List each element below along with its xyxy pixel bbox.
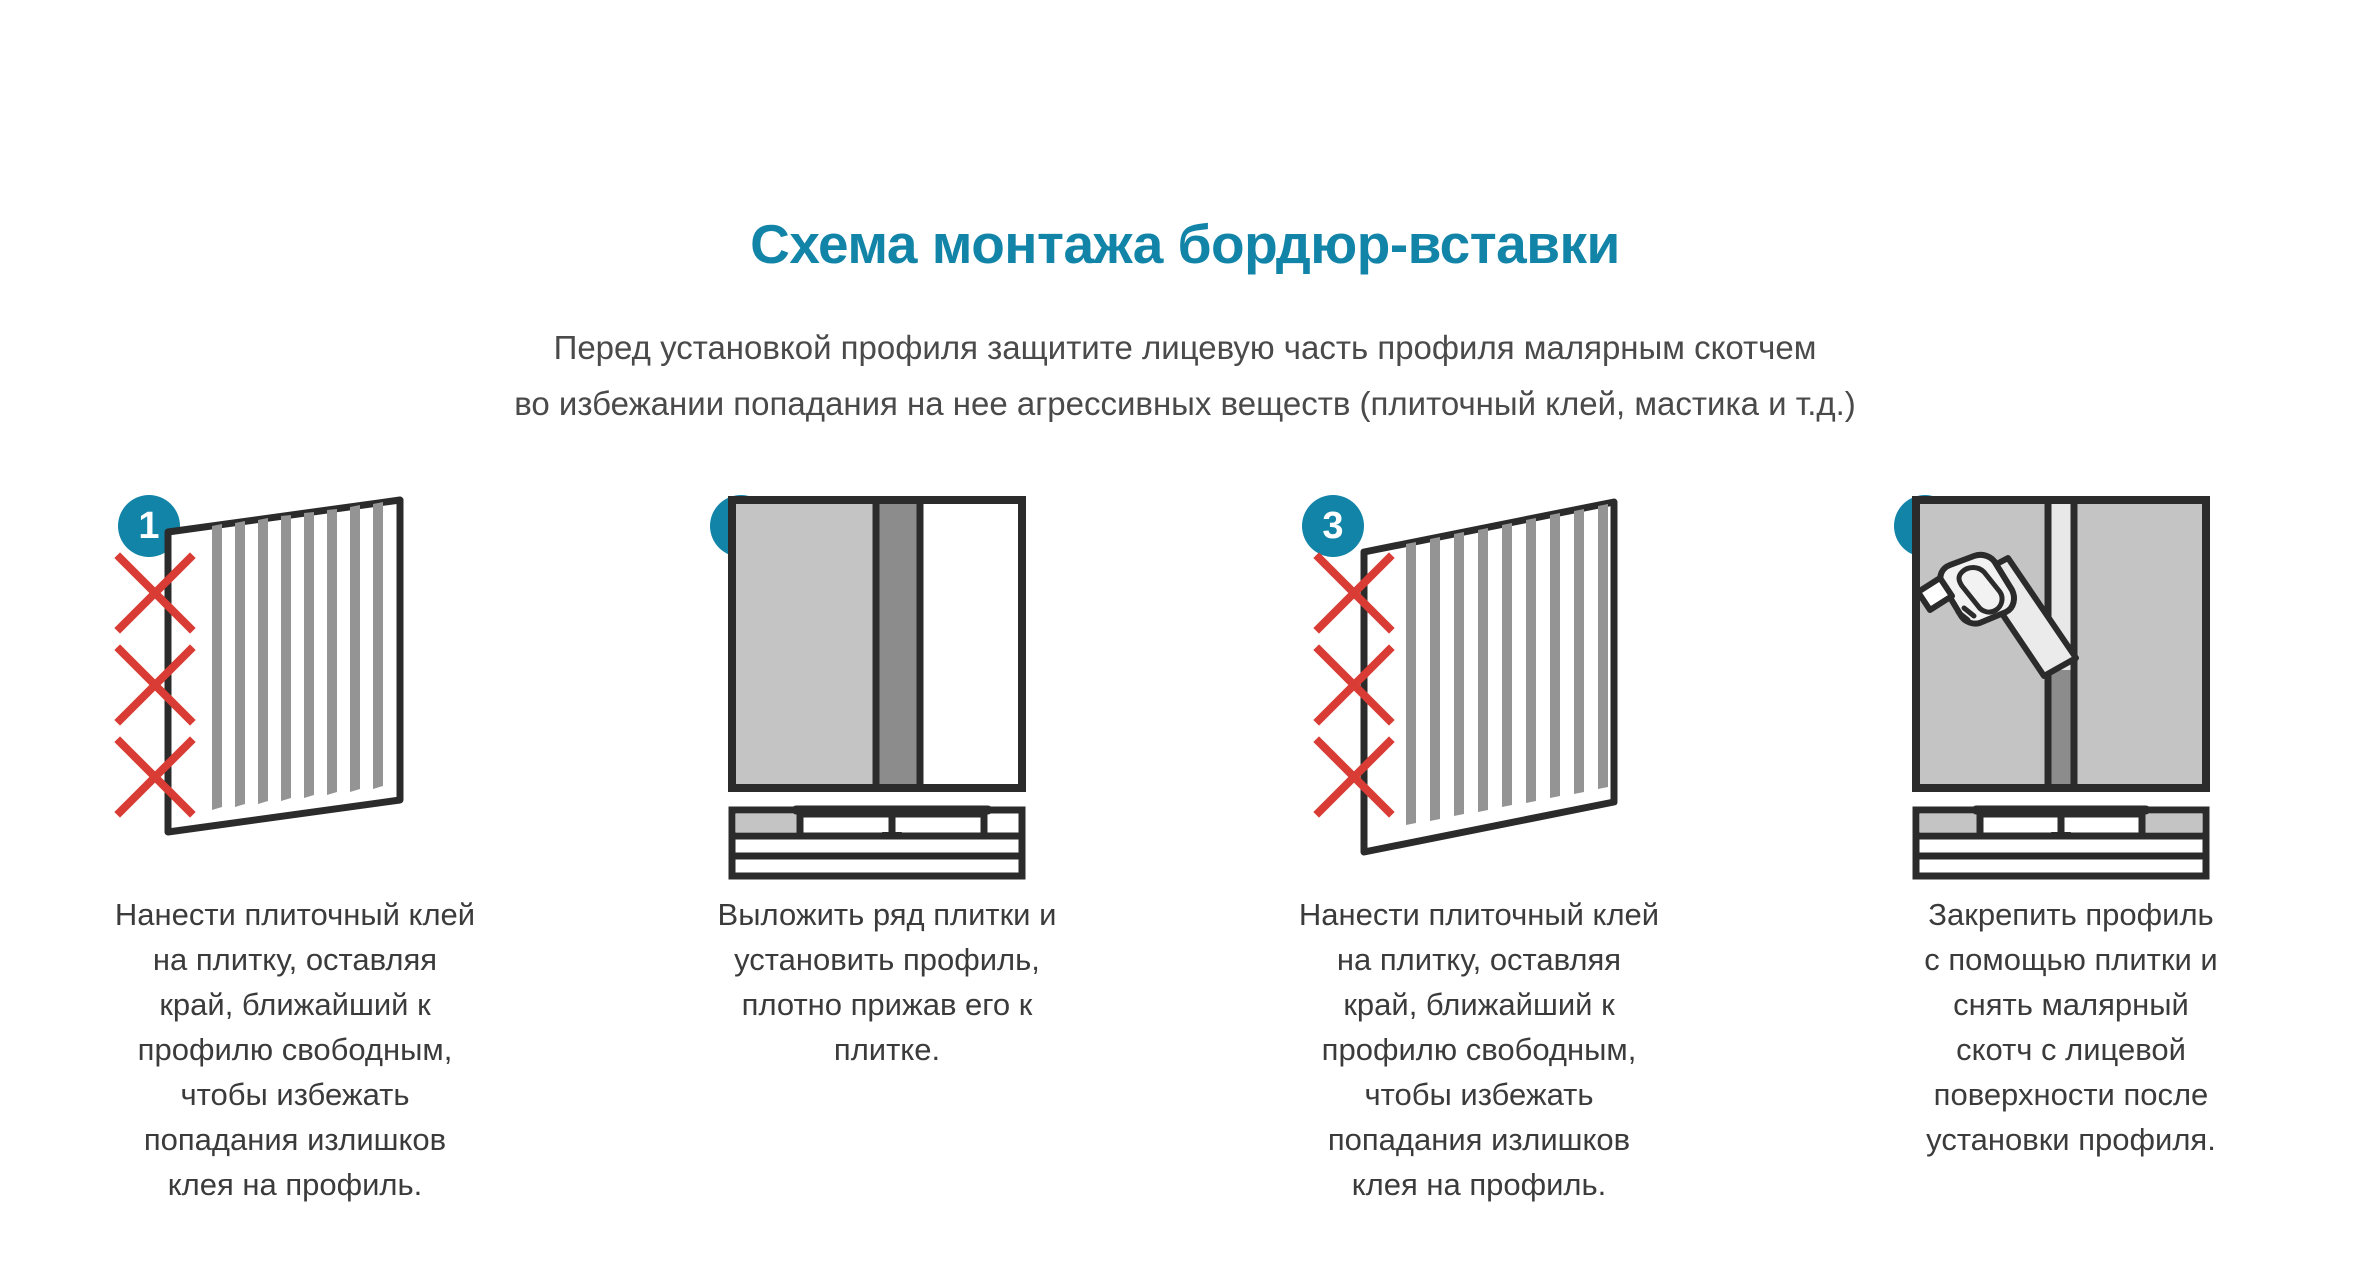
- step-3: 3: [1184, 480, 1776, 1270]
- front-elevation: [732, 500, 1022, 788]
- caption-line: край, ближайший к: [30, 982, 560, 1027]
- caption-line: попадания излишков: [30, 1117, 560, 1162]
- step-2: 2: [592, 480, 1184, 1270]
- caption-line: Нанести плиточный клей: [30, 892, 560, 937]
- step-1: 1: [0, 480, 592, 1270]
- tile-section-right: [2142, 814, 2202, 832]
- caption-line: на плитку, оставляя: [30, 937, 560, 982]
- tile-left: [736, 504, 876, 784]
- substrate-layer-2: [1916, 856, 2206, 876]
- caption-line: профилю свободным,: [30, 1027, 560, 1072]
- subtitle-line-1: Перед установкой профиля защитите лицеву…: [0, 320, 2370, 376]
- tile-panel-left-tilt-svg: [1184, 480, 1776, 880]
- caption-line: плотно прижав его к: [622, 982, 1152, 1027]
- caption-line: Нанести плиточный клей: [1214, 892, 1744, 937]
- step-4-caption: Закрепить профиль с помощью плитки и сня…: [1806, 892, 2336, 1162]
- caption-line: поверхности после: [1806, 1072, 2336, 1117]
- caption-line: край, ближайший к: [1214, 982, 1744, 1027]
- profile-strip: [876, 504, 920, 784]
- step-1-illustration: [0, 480, 592, 880]
- adhesive-stripes: [1406, 504, 1608, 825]
- step-2-caption: Выложить ряд плитки и установить профиль…: [622, 892, 1152, 1072]
- caption-line: установки профиля.: [1806, 1117, 2336, 1162]
- caption-line: профилю свободным,: [1214, 1027, 1744, 1072]
- caption-line: Закрепить профиль: [1806, 892, 2336, 937]
- peel-tape-and-cross-section-svg: [1776, 480, 2368, 880]
- caption-line: установить профиль,: [622, 937, 1152, 982]
- caption-line: клея на профиль.: [1214, 1162, 1744, 1207]
- subtitle-line-2: во избежании попадания на нее агрессивны…: [0, 376, 2370, 432]
- page-subtitle: Перед установкой профиля защитите лицеву…: [0, 320, 2370, 432]
- tile-section: [736, 814, 800, 832]
- tile-section-left: [1920, 814, 1980, 832]
- caption-line: плитке.: [622, 1027, 1152, 1072]
- caption-line: Выложить ряд плитки и: [622, 892, 1152, 937]
- caption-line: на плитку, оставляя: [1214, 937, 1744, 982]
- tile-right: [2074, 504, 2202, 784]
- step-2-illustration: [592, 480, 1184, 880]
- steps-container: 1: [0, 480, 2370, 1270]
- front-elevation: [1916, 500, 2206, 788]
- caption-line: с помощью плитки и: [1806, 937, 2336, 982]
- tile-panel-right-tilt-svg: [0, 480, 592, 880]
- page-title: Схема монтажа бордюр-вставки: [0, 212, 2370, 276]
- step-3-illustration: [1184, 480, 1776, 880]
- caption-line: снять малярный: [1806, 982, 2336, 1027]
- cross-section: [732, 810, 1022, 876]
- step-4-illustration: [1776, 480, 2368, 880]
- caption-line: скотч с лицевой: [1806, 1027, 2336, 1072]
- caption-line: чтобы избежать: [30, 1072, 560, 1117]
- installation-diagram-page: Схема монтажа бордюр-вставки Перед устан…: [0, 0, 2370, 1265]
- step-3-caption: Нанести плиточный клей на плитку, оставл…: [1214, 892, 1744, 1207]
- caption-line: чтобы избежать: [1214, 1072, 1744, 1117]
- cross-section: [1916, 810, 2206, 876]
- substrate-layer-2: [732, 856, 1022, 876]
- caption-line: клея на профиль.: [30, 1162, 560, 1207]
- caption-line: попадания излишков: [1214, 1117, 1744, 1162]
- step-4: 4: [1776, 480, 2368, 1270]
- step-1-caption: Нанести плиточный клей на плитку, оставл…: [30, 892, 560, 1207]
- front-view-and-cross-section-svg: [592, 480, 1184, 880]
